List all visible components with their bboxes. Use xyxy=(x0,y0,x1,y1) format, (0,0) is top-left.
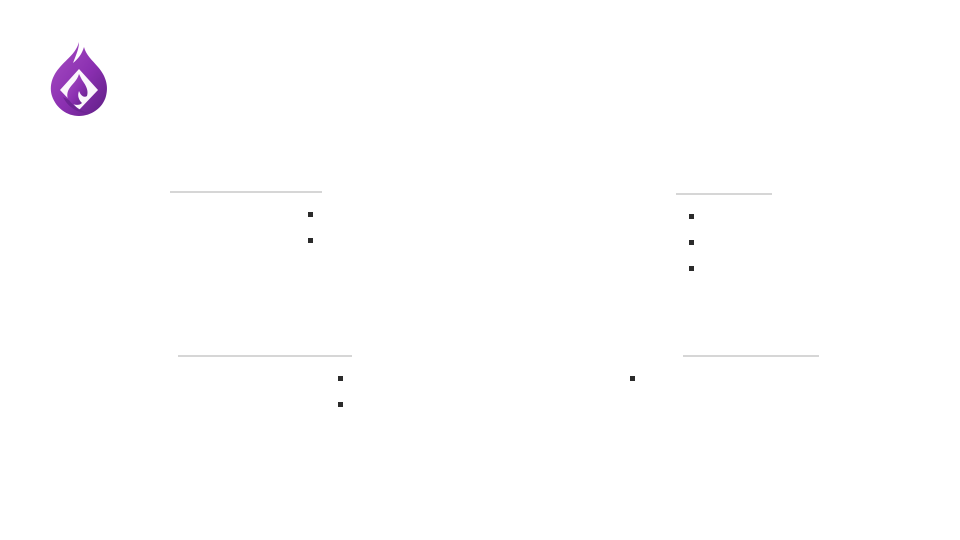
heading-rule xyxy=(676,193,772,195)
bullet-square-icon xyxy=(338,376,343,381)
molecule-diagram xyxy=(360,148,660,400)
heading-rule xyxy=(178,355,352,357)
list-item xyxy=(630,366,958,392)
bullet-square-icon xyxy=(338,402,343,407)
list-item xyxy=(0,392,352,418)
list-item xyxy=(689,204,956,230)
bullet-square-icon xyxy=(308,238,313,243)
section-oxidation xyxy=(676,190,956,299)
slide-header xyxy=(46,38,118,118)
list-item xyxy=(0,202,322,228)
bullet-list-surfactant xyxy=(0,366,360,418)
list-item xyxy=(689,230,956,256)
section-surfactant-coating xyxy=(0,352,360,435)
bullet-square-icon xyxy=(689,214,694,219)
section-graphitization xyxy=(683,352,958,409)
bullet-list-blend xyxy=(0,202,330,254)
bullet-list-graphitization xyxy=(630,366,958,392)
bullet-list-oxidation xyxy=(689,204,956,282)
heading-rule xyxy=(170,191,322,193)
bullet-square-icon xyxy=(689,266,694,271)
bullet-square-icon xyxy=(689,240,694,245)
list-item xyxy=(0,366,352,392)
slide xyxy=(0,0,960,540)
heading-rule xyxy=(683,355,819,357)
section-blend-and-grind xyxy=(0,188,330,271)
flame-diamond-logo-icon xyxy=(46,40,110,118)
list-item xyxy=(689,256,956,282)
bullet-square-icon xyxy=(308,212,313,217)
list-item xyxy=(0,228,322,254)
